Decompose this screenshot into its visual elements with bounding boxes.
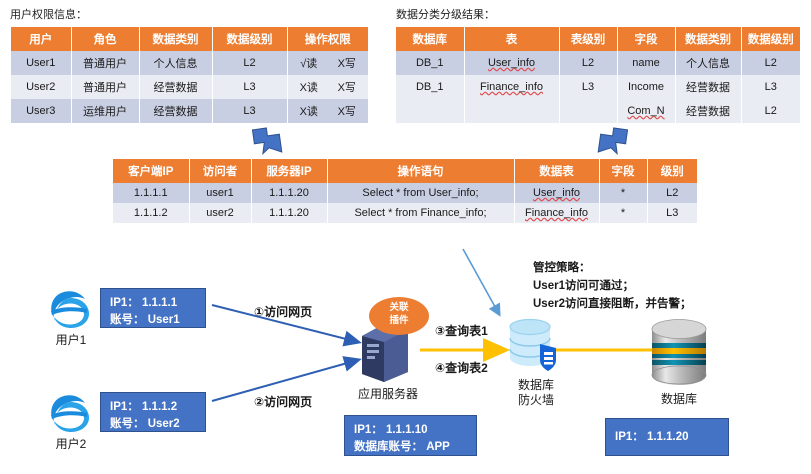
plugin-badge: 关联 插件 [368, 296, 430, 336]
col-data-category: 数据类别 [139, 27, 212, 51]
col-visitor: 访问者 [189, 159, 251, 183]
table-header-row: 数据库 表 表级别 字段 数据类别 数据级别 [396, 27, 800, 51]
col-data-level: 数据级别 [212, 27, 287, 51]
cell-category: 经营数据 [139, 99, 212, 123]
col-data-category: 数据类别 [675, 27, 741, 51]
cell-server-ip: 1.1.1.20 [251, 203, 327, 223]
cell-table: User_info [464, 51, 559, 75]
query-arrow-to-firewall [420, 340, 515, 360]
cell-level: L3 [647, 203, 697, 223]
col-table-level: 表级别 [559, 27, 617, 51]
table-row: User3 运维用户 经营数据 L3 X读X写 [11, 99, 368, 123]
table-header-row: 用户 角色 数据类别 数据级别 操作权限 [11, 27, 368, 51]
cell-category: 个人信息 [675, 51, 741, 75]
cell-field: * [599, 183, 647, 203]
perm-read: X读 [296, 103, 322, 119]
cell-table [464, 99, 559, 123]
user1-label: 用户1 [36, 331, 106, 348]
table-row: 1.1.1.1 user1 1.1.1.20 Select * from Use… [113, 183, 697, 203]
firewall-label-line1: 数据库 [505, 378, 567, 393]
cell-category: 个人信息 [139, 51, 212, 75]
policy-text-block: 管控策略： User1访问可通过； User2访问直接阻断，并告警； [533, 260, 691, 313]
cell-permission: X读X写 [287, 99, 368, 123]
cell-client-ip: 1.1.1.1 [113, 183, 189, 203]
firewall-label-line2: 防火墙 [505, 393, 567, 408]
flow-label-2: ②访问网页 [254, 393, 312, 410]
cell-role: 普通用户 [71, 75, 139, 99]
col-user: 用户 [11, 27, 71, 51]
user2-label: 用户2 [36, 435, 106, 452]
right-table-caption: 数据分类分级结果： [396, 6, 495, 22]
cell-permission: √读X写 [287, 51, 368, 75]
flow-label-4: ④查询表2 [435, 359, 488, 376]
cell-visitor: user2 [189, 203, 251, 223]
database-ip: IP1： 1.1.1.20 [615, 429, 689, 446]
cell-statement: Select * from User_info; [327, 183, 514, 203]
user1-info-box: IP1： 1.1.1.1 账号： User1 [100, 288, 206, 328]
database-label: 数据库 [644, 390, 714, 407]
cell-category: 经营数据 [675, 75, 741, 99]
user1-ip: IP1： 1.1.1.1 [110, 295, 196, 312]
col-role: 角色 [71, 27, 139, 51]
cell-category: 经营数据 [139, 75, 212, 99]
col-data-table: 数据表 [514, 159, 599, 183]
cell-role: 运维用户 [71, 99, 139, 123]
perm-write: X写 [334, 79, 360, 95]
col-table: 表 [464, 27, 559, 51]
flow-label-3: ③查询表1 [435, 322, 488, 339]
firewall-label: 数据库 防火墙 [505, 378, 567, 408]
table-header-row: 客户端IP 访问者 服务器IP 操作语句 数据表 字段 级别 [113, 159, 697, 183]
perm-write: X写 [334, 103, 360, 119]
cell-data-table: Finance_info [514, 203, 599, 223]
cell-category: 经营数据 [675, 99, 741, 123]
cell-user: User2 [11, 75, 71, 99]
app-server-info-box: IP1： 1.1.1.10 数据库账号： APP [344, 415, 477, 456]
cell-visitor: user1 [189, 183, 251, 203]
cell-field: * [599, 203, 647, 223]
cell-table: Finance_info [464, 75, 559, 99]
user-permission-table: 用户 角色 数据类别 数据级别 操作权限 User1 普通用户 个人信息 L2 … [11, 27, 368, 123]
database-info-box: IP1： 1.1.1.20 [605, 418, 729, 456]
audit-log-table: 客户端IP 访问者 服务器IP 操作语句 数据表 字段 级别 1.1.1.1 u… [113, 159, 697, 223]
cell-level: L2 [741, 99, 800, 123]
cell-data-table: User_info [514, 183, 599, 203]
plugin-label-line2: 插件 [368, 315, 430, 328]
cell-database: DB_1 [396, 51, 464, 75]
cell-level: L2 [212, 51, 287, 75]
cell-table-level: L2 [559, 51, 617, 75]
plugin-label-line1: 关联 [368, 302, 430, 315]
col-client-ip: 客户端IP [113, 159, 189, 183]
col-server-ip: 服务器IP [251, 159, 327, 183]
cell-field: name [617, 51, 675, 75]
table-row: User1 普通用户 个人信息 L2 √读X写 [11, 51, 368, 75]
app-server-label: 应用服务器 [343, 385, 433, 402]
cell-database: DB_1 [396, 75, 464, 99]
policy-title: 管控策略： [533, 260, 691, 278]
col-database: 数据库 [396, 27, 464, 51]
cell-server-ip: 1.1.1.20 [251, 183, 327, 203]
col-data-level: 数据级别 [741, 27, 800, 51]
user2-ip: IP1： 1.1.1.2 [110, 399, 196, 416]
cell-user: User1 [11, 51, 71, 75]
cell-permission: X读X写 [287, 75, 368, 99]
table-row: DB_1 User_info L2 name 个人信息 L2 [396, 51, 800, 75]
table-row: 1.1.1.2 user2 1.1.1.20 Select * from Fin… [113, 203, 697, 223]
col-statement: 操作语句 [327, 159, 514, 183]
table-row: DB_1 Finance_info L3 Income 经营数据 L3 [396, 75, 800, 99]
cell-table-level: L3 [559, 75, 617, 99]
data-classification-table: 数据库 表 表级别 字段 数据类别 数据级别 DB_1 User_info L2… [396, 27, 800, 123]
cell-client-ip: 1.1.1.2 [113, 203, 189, 223]
ie-browser-icon-user1 [47, 286, 95, 330]
table-to-firewall-connector [455, 246, 525, 326]
col-level: 级别 [647, 159, 697, 183]
perm-read: √读 [296, 55, 322, 71]
cell-level: L3 [212, 75, 287, 99]
arrow-down-right-icon [248, 120, 282, 154]
left-table-caption: 用户权限信息： [10, 6, 87, 22]
policy-line-2: User2访问直接阻断，并告警； [533, 296, 691, 314]
cell-field: Income [617, 75, 675, 99]
flow-label-1: ①访问网页 [254, 303, 312, 320]
col-operation-permission: 操作权限 [287, 27, 368, 51]
arrow-down-left-icon [592, 120, 626, 154]
col-field: 字段 [599, 159, 647, 183]
perm-write: X写 [334, 55, 360, 71]
ie-browser-icon-user2 [47, 390, 95, 434]
col-field: 字段 [617, 27, 675, 51]
database-firewall-icon [506, 318, 562, 376]
cell-role: 普通用户 [71, 51, 139, 75]
policy-line-1: User1访问可通过； [533, 278, 691, 296]
user1-account: 账号： User1 [110, 312, 196, 329]
cell-user: User3 [11, 99, 71, 123]
cell-level: L2 [741, 51, 800, 75]
cell-database [396, 99, 464, 123]
database-icon [648, 317, 710, 389]
cell-level: L2 [647, 183, 697, 203]
app-server-db-account: 数据库账号： APP [354, 439, 467, 456]
cell-level: L3 [741, 75, 800, 99]
perm-read: X读 [296, 79, 322, 95]
cell-statement: Select * from Finance_info; [327, 203, 514, 223]
user2-info-box: IP1： 1.1.1.2 账号： User2 [100, 392, 206, 432]
table-row: User2 普通用户 经营数据 L3 X读X写 [11, 75, 368, 99]
user2-account: 账号： User2 [110, 416, 196, 433]
app-server-ip: IP1： 1.1.1.10 [354, 422, 467, 439]
